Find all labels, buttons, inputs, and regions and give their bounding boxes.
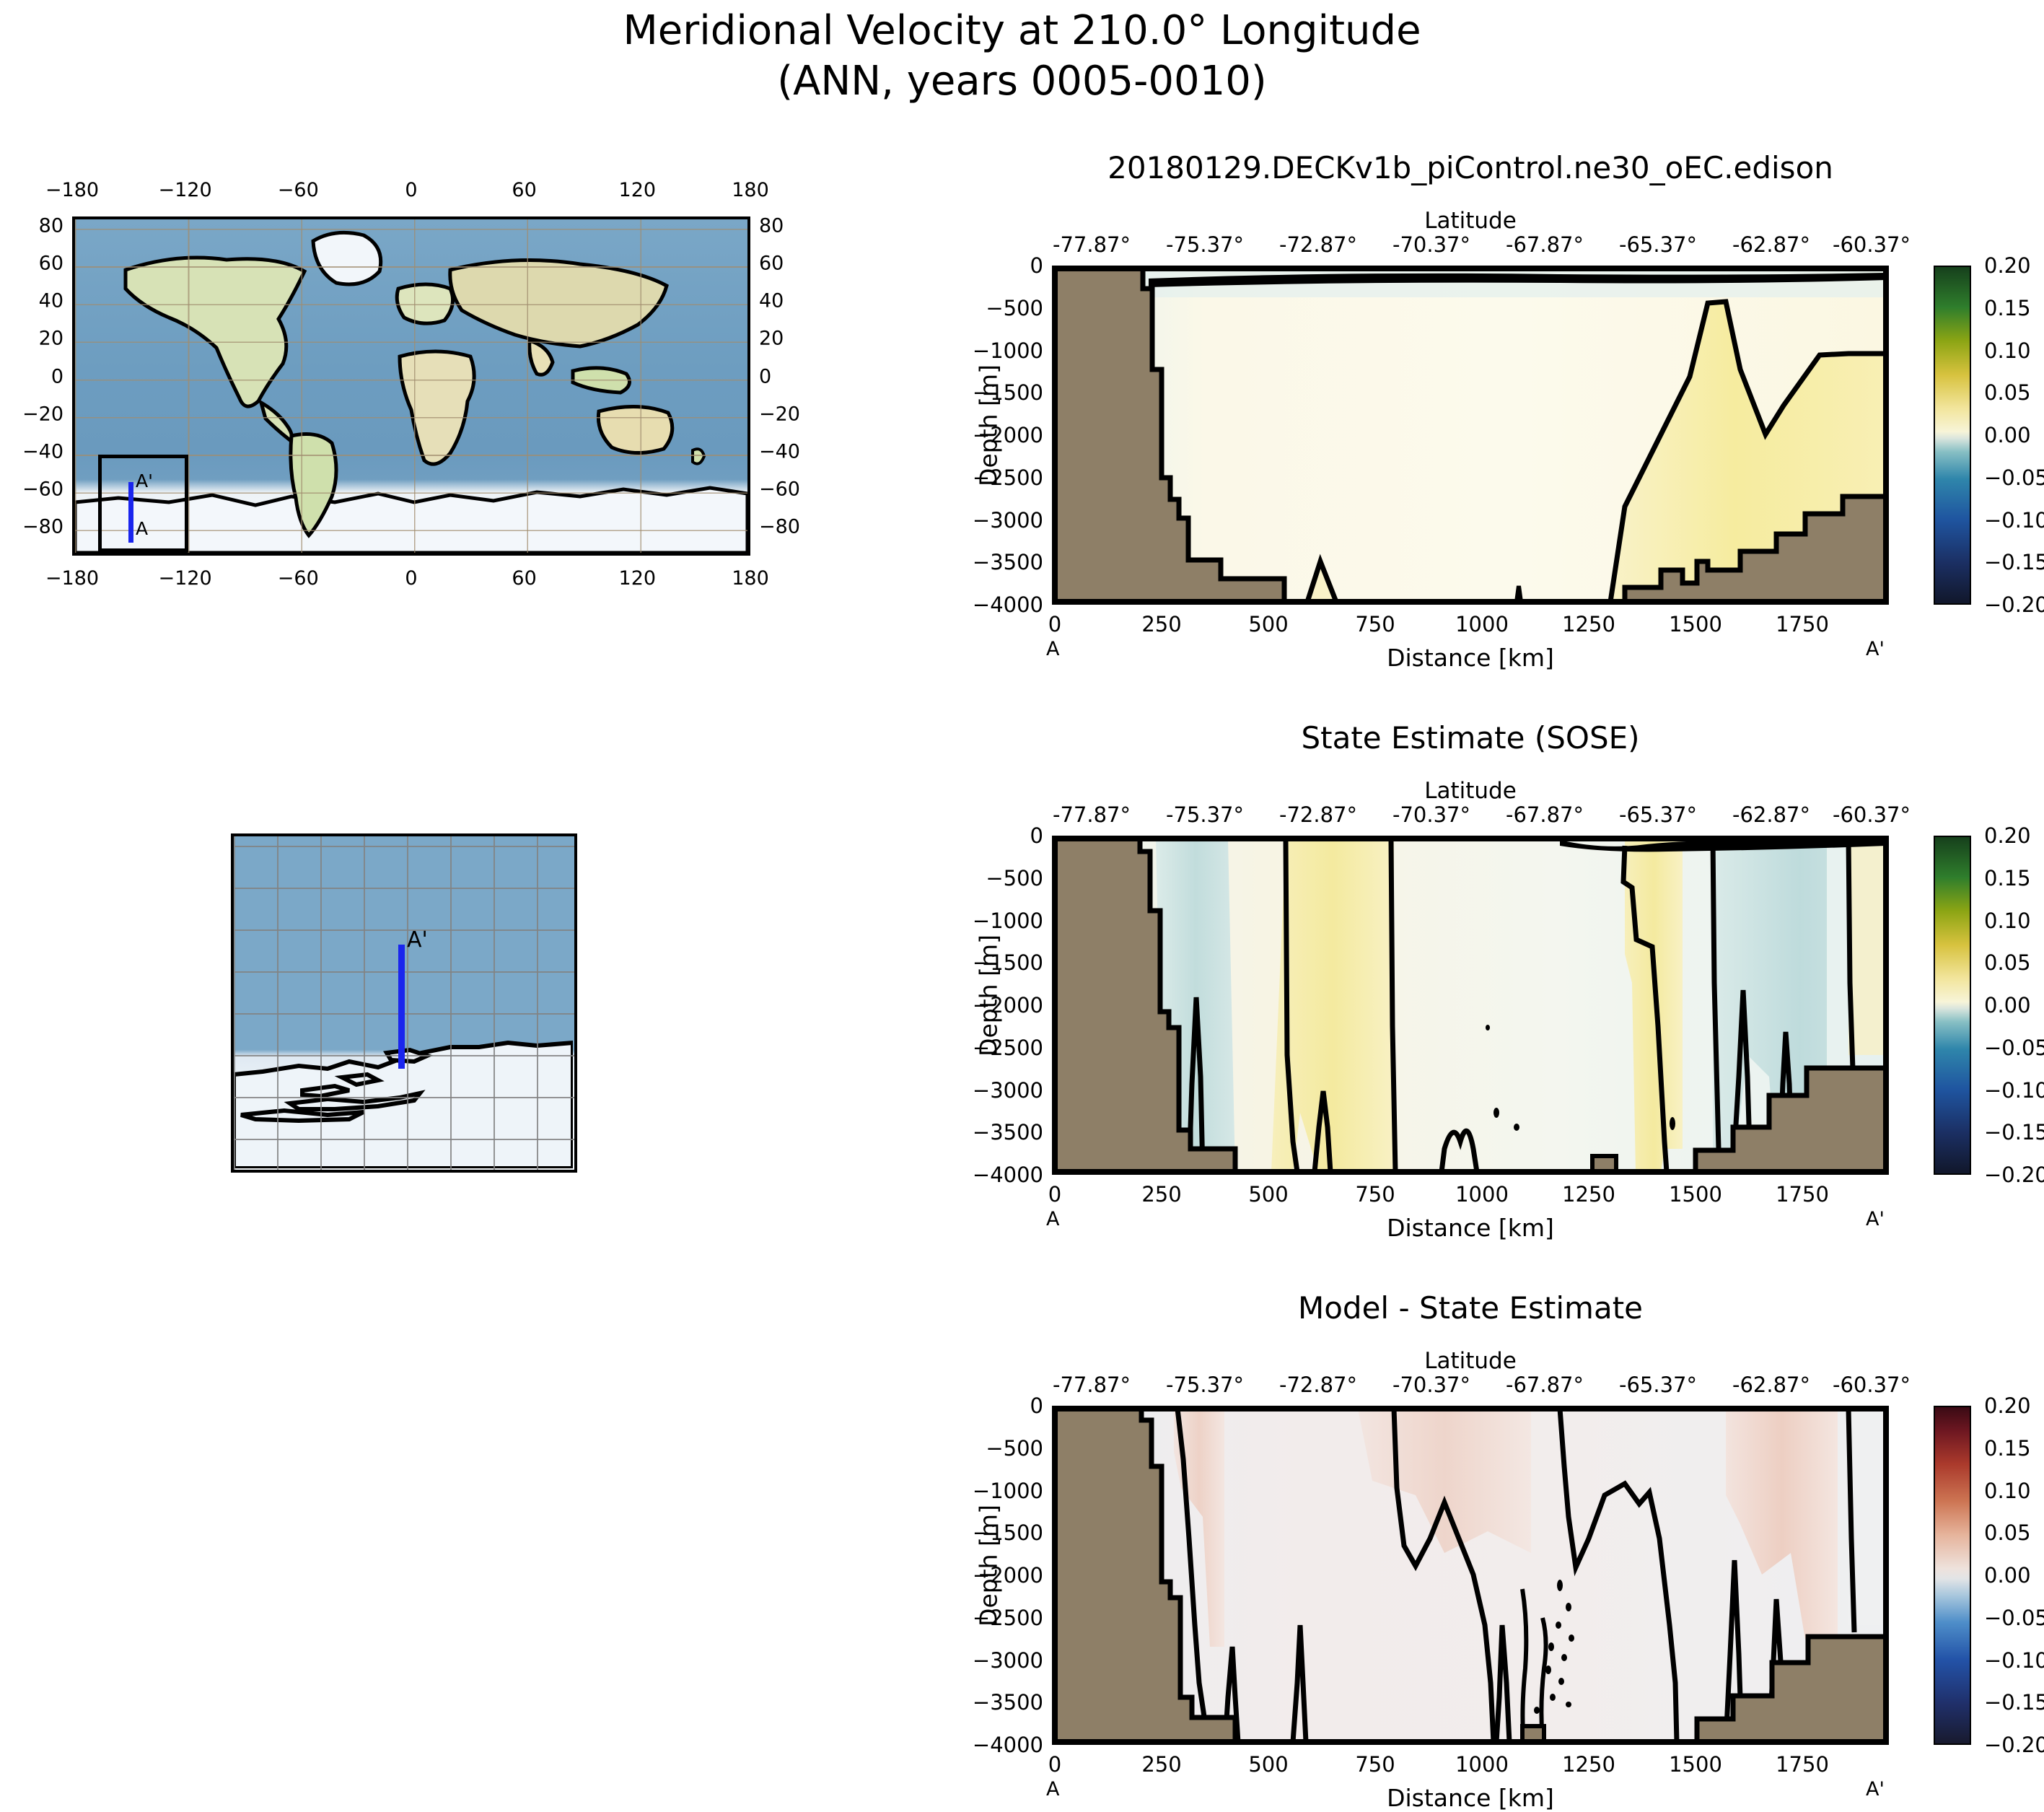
panel-plot-area-model — [1052, 266, 1889, 605]
lat-tick: 0 — [51, 366, 63, 388]
depth-tick: −2500 — [973, 465, 1043, 490]
depth-tick: −2500 — [973, 1606, 1043, 1630]
depth-tick: −2000 — [973, 993, 1043, 1017]
depth-tick: −500 — [986, 296, 1043, 320]
depth-tick: −4000 — [973, 1163, 1043, 1187]
depth-tick: 0 — [1030, 823, 1043, 848]
colorbar-gradient-delta — [1934, 836, 1971, 1175]
panel-latitude-ticks: -77.87° -75.37° -72.87° -70.37° -67.87° … — [1052, 1373, 1889, 1397]
lat-tick: 80 — [39, 215, 63, 237]
distance-tick: 1750 — [1776, 612, 1829, 636]
colorbar-tick: 0.20 — [1984, 253, 2031, 278]
inset-transect-end-label: A' — [407, 927, 428, 953]
colorbar-tick: −0.20 — [1984, 1163, 2044, 1187]
lon-tick: 60 — [512, 567, 536, 590]
colorbar-tick: −0.10 — [1984, 508, 2044, 533]
lat-tick: -77.87° — [1053, 232, 1131, 257]
lat-tick: 20 — [39, 328, 63, 350]
lon-tick: 180 — [732, 567, 769, 590]
lat-tick: -77.87° — [1053, 802, 1131, 827]
lat-tick: -72.87° — [1279, 232, 1357, 257]
panel-title: 20180129.DECKv1b_piControl.ne30_oEC.edis… — [1052, 150, 1889, 185]
sose-velocity-field — [1055, 839, 1886, 1172]
lat-tick: -60.37° — [1833, 802, 1911, 827]
regional-inset-map: A' — [231, 833, 577, 1173]
depth-tick: −3500 — [973, 1690, 1043, 1715]
lon-tick: 0 — [405, 567, 417, 590]
colorbar-tick: 0.15 — [1984, 1436, 2031, 1461]
colorbar-tick: 0.00 — [1984, 993, 2031, 1017]
distance-tick: 1000 — [1455, 1182, 1509, 1207]
depth-tick: −2500 — [973, 1036, 1043, 1060]
panel-depth-ticks: 0 −500 −1000 −1500 −2000 −2500 −3000 −35… — [942, 266, 1043, 605]
depth-tick: −1500 — [973, 1520, 1043, 1545]
panel-x-axis-label: Distance [km] — [1052, 1214, 1889, 1242]
lat-tick: -72.87° — [1279, 802, 1357, 827]
lat-tick: −60 — [22, 478, 63, 501]
colorbar-sose: 0.20 0.15 0.10 0.05 0.00 −0.05 −0.10 −0.… — [1934, 828, 2044, 1182]
distance-tick: 1250 — [1562, 1752, 1615, 1777]
distance-tick: 0 — [1048, 1752, 1061, 1777]
distance-tick: 750 — [1355, 1752, 1395, 1777]
panel-distance-ticks: 0 250 500 750 1000 1250 1500 1750 — [1052, 1752, 1889, 1777]
colorbar-tick: 0.15 — [1984, 296, 2031, 320]
figure-title: Meridional Velocity at 210.0° Longitude … — [0, 6, 2044, 107]
depth-tick: −3000 — [973, 508, 1043, 533]
panel-plot-area-sose — [1052, 836, 1889, 1175]
lon-tick: 120 — [619, 567, 657, 590]
distance-tick: 1500 — [1669, 1752, 1722, 1777]
worldmap-transect-start-label: A — [136, 518, 148, 539]
worldmap-lat-ticks-left: 80 60 40 20 0 −20 −40 −60 −80 — [7, 216, 63, 556]
lon-tick: −60 — [278, 567, 319, 590]
panel-distance-ticks: 0 250 500 750 1000 1250 1500 1750 — [1052, 1182, 1889, 1207]
lat-tick: -70.37° — [1392, 1373, 1470, 1397]
colorbar-tick: −0.20 — [1984, 592, 2044, 617]
distance-tick: 1500 — [1669, 1182, 1722, 1207]
colorbar-tick: 0.20 — [1984, 823, 2031, 848]
colorbar-tick: 0.00 — [1984, 423, 2031, 447]
colorbar-tick: −0.05 — [1984, 1036, 2044, 1060]
lat-tick: −80 — [759, 516, 800, 538]
colorbar-tick: 0.05 — [1984, 380, 2031, 405]
colorbar-tick: −0.15 — [1984, 550, 2044, 574]
panel-top-axis-label: Latitude — [1052, 1348, 1889, 1374]
lon-tick: 180 — [732, 179, 769, 201]
lat-tick: 60 — [759, 253, 784, 275]
depth-tick: −3000 — [973, 1648, 1043, 1673]
lat-tick: 80 — [759, 215, 784, 237]
distance-tick: 1000 — [1455, 1752, 1509, 1777]
depth-tick: 0 — [1030, 253, 1043, 278]
colorbar-difference: 0.20 0.15 0.10 0.05 0.00 −0.05 −0.10 −0.… — [1934, 1399, 2044, 1752]
panel-latitude-ticks: -77.87° -75.37° -72.87° -70.37° -67.87° … — [1052, 802, 1889, 827]
lon-tick: −120 — [159, 567, 212, 590]
distance-tick: 0 — [1048, 612, 1061, 636]
colorbar-tick: 0.15 — [1984, 866, 2031, 890]
lat-tick: -70.37° — [1392, 232, 1470, 257]
model-velocity-field — [1055, 268, 1886, 602]
lat-tick: −20 — [759, 403, 800, 426]
depth-tick: −3500 — [973, 1120, 1043, 1144]
distance-tick: 1500 — [1669, 612, 1722, 636]
distance-tick: 1750 — [1776, 1182, 1829, 1207]
depth-tick: −500 — [986, 866, 1043, 890]
colorbar-tick: 0.20 — [1984, 1393, 2031, 1418]
lat-tick: -62.87° — [1732, 802, 1810, 827]
colorbar-tick: −0.10 — [1984, 1648, 2044, 1673]
lat-tick: -65.37° — [1619, 802, 1697, 827]
depth-tick: −4000 — [973, 1733, 1043, 1757]
distance-tick: 250 — [1141, 612, 1181, 636]
colorbar-tick: −0.05 — [1984, 1606, 2044, 1630]
distance-tick: 500 — [1248, 1182, 1288, 1207]
distance-tick: 250 — [1141, 1752, 1181, 1777]
lat-tick: -75.37° — [1166, 802, 1244, 827]
figure-title-line-1: Meridional Velocity at 210.0° Longitude — [0, 6, 2044, 56]
lon-tick: −180 — [45, 567, 99, 590]
lat-tick: -75.37° — [1166, 1373, 1244, 1397]
colorbar-tick: −0.20 — [1984, 1733, 2044, 1757]
depth-tick: −1500 — [973, 380, 1043, 405]
worldmap-transect-line — [128, 482, 133, 543]
panel-x-axis-label: Distance [km] — [1052, 644, 1889, 672]
distance-tick: 250 — [1141, 1182, 1181, 1207]
colorbar-tick: −0.15 — [1984, 1690, 2044, 1715]
colorbar-tick: −0.10 — [1984, 1078, 2044, 1103]
colorbar-tick: 0.10 — [1984, 338, 2031, 363]
lat-tick: −40 — [759, 441, 800, 463]
inset-transect-line — [398, 945, 405, 1069]
depth-tick: −1000 — [973, 338, 1043, 363]
distance-tick: 1250 — [1562, 1182, 1615, 1207]
colorbar-tick: 0.00 — [1984, 1563, 2031, 1588]
lon-tick: −60 — [278, 179, 319, 201]
depth-tick: −500 — [986, 1436, 1043, 1461]
lon-tick: 60 — [512, 179, 536, 201]
distance-tick: 1000 — [1455, 612, 1509, 636]
distance-tick: 500 — [1248, 1752, 1288, 1777]
lat-tick: -60.37° — [1833, 232, 1911, 257]
colorbar-gradient-balance — [1934, 1406, 1971, 1745]
lat-tick: -67.87° — [1506, 232, 1584, 257]
panel-title: State Estimate (SOSE) — [1052, 720, 1889, 756]
lat-tick: -77.87° — [1053, 1373, 1131, 1397]
lat-tick: -62.87° — [1732, 1373, 1810, 1397]
worldmap-lon-ticks-top: −180 −120 −60 0 60 120 180 — [72, 179, 750, 203]
panel-title: Model - State Estimate — [1052, 1290, 1889, 1326]
distance-tick: 1250 — [1562, 612, 1615, 636]
depth-tick: −3500 — [973, 550, 1043, 574]
lon-tick: −120 — [159, 179, 212, 201]
lon-tick: 0 — [405, 179, 417, 201]
lat-tick: 0 — [759, 366, 771, 388]
distance-tick: 750 — [1355, 1182, 1395, 1207]
worldmap-transect-end-label: A' — [136, 470, 153, 491]
panel-depth-ticks: 0 −500 −1000 −1500 −2000 −2500 −3000 −35… — [942, 836, 1043, 1175]
panel-top-axis-label: Latitude — [1052, 778, 1889, 804]
colorbar-tick: 0.05 — [1984, 1520, 2031, 1545]
depth-tick: −2000 — [973, 423, 1043, 447]
global-reference-map: −180 −120 −60 0 60 120 180 80 60 40 20 0… — [72, 216, 750, 556]
colorbar-tick: 0.10 — [1984, 909, 2031, 933]
lat-tick: -72.87° — [1279, 1373, 1357, 1397]
panel-plot-area-difference — [1052, 1406, 1889, 1745]
depth-tick: 0 — [1030, 1393, 1043, 1418]
distance-tick: 500 — [1248, 612, 1288, 636]
panel-latitude-ticks: -77.87° -75.37° -72.87° -70.37° -67.87° … — [1052, 232, 1889, 257]
colorbar-tick: 0.05 — [1984, 950, 2031, 975]
depth-tick: −4000 — [973, 592, 1043, 617]
difference-velocity-field — [1055, 1409, 1886, 1742]
lat-tick: −40 — [22, 441, 63, 463]
lat-tick: -67.87° — [1506, 1373, 1584, 1397]
lon-tick: −180 — [45, 179, 99, 201]
lat-tick: -75.37° — [1166, 232, 1244, 257]
lat-tick: −20 — [22, 403, 63, 426]
depth-tick: −1000 — [973, 909, 1043, 933]
panel-depth-ticks: 0 −500 −1000 −1500 −2000 −2500 −3000 −35… — [942, 1406, 1043, 1745]
colorbar-tick: −0.05 — [1984, 465, 2044, 490]
depth-tick: −3000 — [973, 1078, 1043, 1103]
lat-tick: 40 — [39, 290, 63, 312]
lat-tick: 60 — [39, 253, 63, 275]
lat-tick: −60 — [759, 478, 800, 501]
colorbar-model: 0.20 0.15 0.10 0.05 0.00 −0.05 −0.10 −0.… — [1934, 258, 2044, 612]
figure-title-line-2: (ANN, years 0005-0010) — [0, 56, 2044, 107]
lat-tick: 20 — [759, 328, 784, 350]
lat-tick: -65.37° — [1619, 232, 1697, 257]
colorbar-tick: 0.10 — [1984, 1479, 2031, 1503]
lat-tick: −80 — [22, 516, 63, 538]
panel-x-axis-label: Distance [km] — [1052, 1784, 1889, 1812]
worldmap-lon-ticks-bottom: −180 −120 −60 0 60 120 180 — [72, 567, 750, 592]
lat-tick: -60.37° — [1833, 1373, 1911, 1397]
lon-tick: 120 — [619, 179, 657, 201]
worldmap-lat-ticks-right: 80 60 40 20 0 −20 −40 −60 −80 — [759, 216, 815, 556]
depth-tick: −2000 — [973, 1563, 1043, 1588]
colorbar-tick: −0.15 — [1984, 1120, 2044, 1144]
depth-tick: −1500 — [973, 950, 1043, 975]
depth-tick: −1000 — [973, 1479, 1043, 1503]
distance-tick: 1750 — [1776, 1752, 1829, 1777]
lat-tick: -70.37° — [1392, 802, 1470, 827]
distance-tick: 0 — [1048, 1182, 1061, 1207]
lat-tick: -67.87° — [1506, 802, 1584, 827]
colorbar-gradient-delta — [1934, 266, 1971, 605]
panel-distance-ticks: 0 250 500 750 1000 1250 1500 1750 — [1052, 612, 1889, 636]
lat-tick: -65.37° — [1619, 1373, 1697, 1397]
panel-top-axis-label: Latitude — [1052, 208, 1889, 234]
distance-tick: 750 — [1355, 612, 1395, 636]
lat-tick: -62.87° — [1732, 232, 1810, 257]
lat-tick: 40 — [759, 290, 784, 312]
